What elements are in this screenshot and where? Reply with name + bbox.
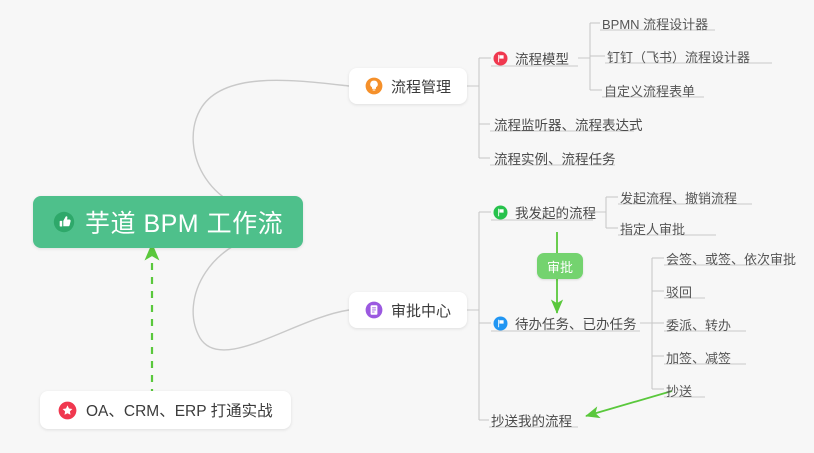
leaf-process-model[interactable]: 流程模型 (491, 47, 573, 69)
clipboard-icon (365, 301, 383, 319)
leaf-label-todo-done-tasks: 待办任务、已办任务 (515, 313, 637, 333)
root-node[interactable]: 芋道 BPM 工作流 (33, 196, 303, 248)
arrow-cc-to-ccme (586, 391, 672, 416)
leaf-label-cc-to-me-process: 抄送我的流程 (491, 410, 572, 430)
branch-label-approval-center: 审批中心 (391, 300, 451, 321)
leaf-countersign-orsign-sequential[interactable]: 会签、或签、依次审批 (664, 247, 800, 269)
leaf-dingtalk-feishu-designer[interactable]: 钉钉（飞书）流程设计器 (605, 45, 754, 67)
leaf-my-initiated-process[interactable]: 我发起的流程 (491, 201, 600, 223)
leaf-reject[interactable]: 驳回 (664, 280, 696, 302)
leaf-label-countersign-orsign-sequential: 会签、或签、依次审批 (666, 249, 796, 268)
mindmap-canvas: 芋道 BPM 工作流 流程管理 流程模型 BPMN 流程设计器 钉钉（飞书）流程… (0, 0, 814, 453)
leaf-label-reject: 驳回 (666, 282, 692, 301)
leaf-cc[interactable]: 抄送 (664, 379, 696, 401)
leaf-label-bpmn-designer: BPMN 流程设计器 (602, 14, 708, 33)
connector-root-to-approval-center (193, 232, 349, 350)
leaf-label-custom-process-form: 自定义流程表单 (604, 81, 695, 100)
flag-icon (493, 316, 508, 331)
leaf-label-designated-approver: 指定人审批 (620, 219, 685, 238)
connector-todo-trunk (640, 258, 652, 389)
leaf-custom-process-form[interactable]: 自定义流程表单 (602, 79, 699, 101)
thumbs-up-icon (53, 211, 75, 233)
leaf-delegate-transfer[interactable]: 委派、转办 (664, 313, 735, 335)
root-label: 芋道 BPM 工作流 (85, 204, 283, 240)
connector-pm-trunk (466, 58, 479, 158)
approval-pill[interactable]: 审批 (537, 253, 583, 279)
leaf-bpmn-designer[interactable]: BPMN 流程设计器 (600, 12, 712, 34)
leaf-process-listener-expression[interactable]: 流程监听器、流程表达式 (492, 113, 647, 135)
leaf-label-my-initiated-process: 我发起的流程 (515, 202, 596, 222)
connector-root-to-process-management (193, 80, 349, 212)
integration-tag-label: OA、CRM、ERP 打通实战 (86, 399, 273, 421)
leaf-label-process-model: 流程模型 (515, 48, 569, 68)
approval-pill-label: 审批 (547, 257, 573, 276)
flag-icon (493, 205, 508, 220)
branch-label-process-management: 流程管理 (391, 76, 451, 97)
leaf-label-cc: 抄送 (666, 381, 692, 400)
branch-node-approval-center[interactable]: 审批中心 (349, 292, 467, 328)
lightbulb-icon (365, 77, 383, 95)
leaf-label-add-remove-sign: 加签、减签 (666, 348, 731, 367)
leaf-label-delegate-transfer: 委派、转办 (666, 315, 731, 334)
connector-model-trunk (578, 23, 590, 90)
star-icon (58, 401, 77, 420)
connector-ac-trunk (466, 212, 479, 420)
leaf-label-process-instance-task: 流程实例、流程任务 (494, 148, 616, 168)
leaf-cc-to-me-process[interactable]: 抄送我的流程 (489, 409, 576, 431)
leaf-add-remove-sign[interactable]: 加签、减签 (664, 346, 735, 368)
leaf-label-process-listener-expression: 流程监听器、流程表达式 (494, 114, 643, 134)
leaf-designated-approver[interactable]: 指定人审批 (618, 217, 689, 239)
leaf-start-cancel-process[interactable]: 发起流程、撤销流程 (618, 186, 741, 208)
flag-icon (493, 51, 508, 66)
branch-node-process-management[interactable]: 流程管理 (349, 68, 467, 104)
leaf-process-instance-task[interactable]: 流程实例、流程任务 (492, 147, 620, 169)
leaf-todo-done-tasks[interactable]: 待办任务、已办任务 (491, 312, 641, 334)
leaf-label-start-cancel-process: 发起流程、撤销流程 (620, 188, 737, 207)
integration-tag-node[interactable]: OA、CRM、ERP 打通实战 (40, 391, 291, 429)
leaf-label-dingtalk-feishu-designer: 钉钉（飞书）流程设计器 (607, 47, 750, 66)
